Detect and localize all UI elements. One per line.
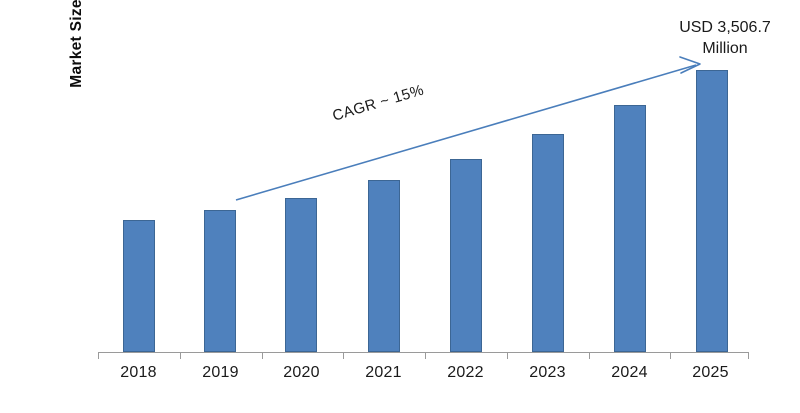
end-value-annotation: USD 3,506.7 Million bbox=[650, 17, 800, 59]
x-axis-tick bbox=[262, 352, 263, 359]
x-axis-tick bbox=[670, 352, 671, 359]
x-axis-label-2025: 2025 bbox=[670, 364, 751, 382]
x-axis-label-2021: 2021 bbox=[343, 364, 424, 382]
bar-2022 bbox=[450, 159, 482, 352]
x-axis-label-2022: 2022 bbox=[425, 364, 506, 382]
end-value-line2: Million bbox=[650, 38, 800, 59]
bar-2024 bbox=[614, 105, 646, 352]
x-axis-line bbox=[98, 352, 748, 353]
x-axis-label-2024: 2024 bbox=[589, 364, 670, 382]
x-axis-tick bbox=[748, 352, 749, 359]
x-axis-tick bbox=[507, 352, 508, 359]
x-axis-label-2020: 2020 bbox=[261, 364, 342, 382]
bar-2020 bbox=[285, 198, 317, 352]
bar-2021 bbox=[368, 180, 400, 352]
bar-2019 bbox=[204, 210, 236, 352]
bar-2018 bbox=[123, 220, 155, 352]
x-axis-tick bbox=[425, 352, 426, 359]
bar-2025 bbox=[696, 70, 728, 352]
bar-2023 bbox=[532, 134, 564, 352]
x-axis-tick bbox=[180, 352, 181, 359]
x-axis-label-2023: 2023 bbox=[507, 364, 588, 382]
x-axis-tick bbox=[589, 352, 590, 359]
x-axis-tick bbox=[98, 352, 99, 359]
market-size-bar-chart: Market Size (USD Million) 2018 2019 2020… bbox=[0, 0, 800, 413]
x-axis-label-2018: 2018 bbox=[98, 364, 179, 382]
end-value-line1: USD 3,506.7 bbox=[650, 17, 800, 38]
x-axis-tick bbox=[343, 352, 344, 359]
x-axis-label-2019: 2019 bbox=[180, 364, 261, 382]
